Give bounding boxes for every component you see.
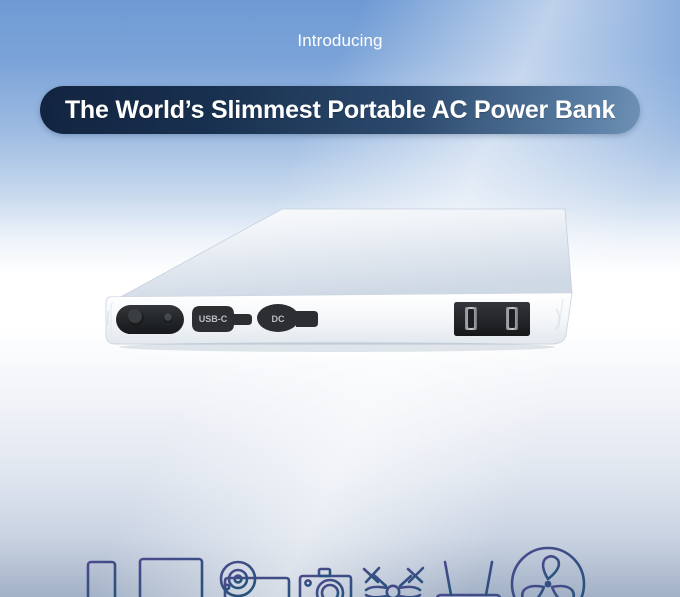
- device-top-surface: [117, 209, 572, 299]
- device-port-ac-inlet: [116, 305, 184, 334]
- projector-icon: [221, 562, 289, 597]
- phone-icon: [88, 562, 115, 597]
- supported-devices-row: [0, 538, 680, 597]
- router-icon: [437, 560, 500, 597]
- power-bank-image: USB-C DC: [82, 201, 582, 361]
- device-port-dc-label: DC: [272, 314, 285, 324]
- device-port-usb-c-label: USB-C: [199, 314, 228, 324]
- laptop-icon: [129, 559, 213, 597]
- headline-text: The World’s Slimmest Portable AC Power B…: [65, 96, 615, 125]
- camera-icon: [300, 569, 351, 597]
- eyebrow-text: Introducing: [0, 31, 680, 51]
- device-port-ac-outlet: [454, 302, 530, 336]
- promo-banner: Introducing The World’s Slimmest Portabl…: [0, 0, 680, 597]
- headline-pill: The World’s Slimmest Portable AC Power B…: [40, 86, 640, 134]
- drone-icon: [364, 568, 423, 597]
- fan-icon: [512, 548, 584, 597]
